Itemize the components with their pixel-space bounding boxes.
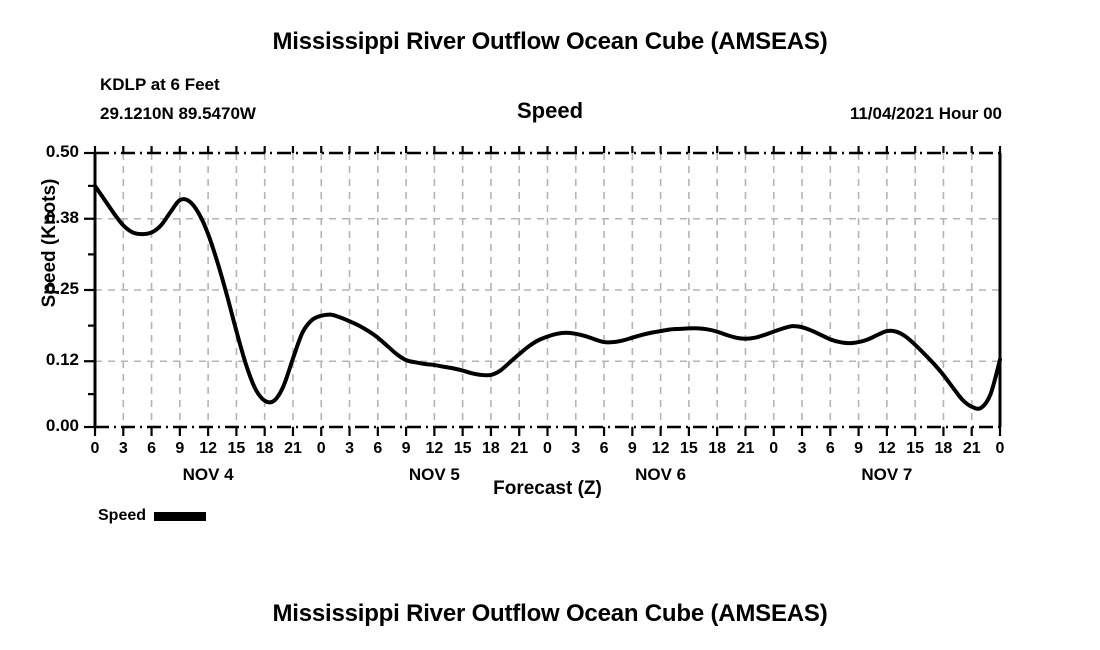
x-tick-label: 18 <box>702 440 732 458</box>
x-tick-label: 6 <box>589 440 619 458</box>
x-tick-label: 9 <box>391 440 421 458</box>
legend: Speed <box>98 507 206 525</box>
x-tick-label: 15 <box>900 440 930 458</box>
x-tick-label: 12 <box>872 440 902 458</box>
x-tick-label: 6 <box>363 440 393 458</box>
x-tick-label: 15 <box>448 440 478 458</box>
x-tick-label: 12 <box>646 440 676 458</box>
x-tick-label: 15 <box>221 440 251 458</box>
x-axis-title: Forecast (Z) <box>95 478 1000 500</box>
chart-plot-area <box>0 0 1100 650</box>
x-tick-label: 15 <box>674 440 704 458</box>
x-tick-label: 21 <box>278 440 308 458</box>
x-tick-label: 6 <box>815 440 845 458</box>
y-tick-label: 0.00 <box>17 416 79 436</box>
legend-label-speed: Speed <box>98 507 146 525</box>
legend-swatch-speed <box>154 512 206 521</box>
y-tick-label: 0.25 <box>17 279 79 299</box>
x-tick-label: 21 <box>504 440 534 458</box>
x-tick-label: 21 <box>730 440 760 458</box>
x-tick-label: 0 <box>759 440 789 458</box>
x-tick-label: 18 <box>928 440 958 458</box>
x-tick-label: 12 <box>419 440 449 458</box>
x-tick-label: 0 <box>533 440 563 458</box>
x-tick-label: 9 <box>617 440 647 458</box>
x-tick-label: 18 <box>476 440 506 458</box>
gridlines <box>95 153 1000 427</box>
y-tick-label: 0.50 <box>17 142 79 162</box>
x-tick-label: 3 <box>787 440 817 458</box>
y-tick-label: 0.12 <box>17 350 79 370</box>
x-tick-label: 3 <box>108 440 138 458</box>
x-tick-label: 3 <box>561 440 591 458</box>
x-tick-label: 9 <box>844 440 874 458</box>
page-title-bottom: Mississippi River Outflow Ocean Cube (AM… <box>0 600 1100 628</box>
x-tick-label: 0 <box>80 440 110 458</box>
y-tick-label: 0.38 <box>17 208 79 228</box>
chart-container: Speed (Knots) 0.000.120.250.380.50 03691… <box>0 0 1100 650</box>
x-tick-label: 12 <box>193 440 223 458</box>
axis-ticks <box>84 146 1000 436</box>
x-tick-label: 6 <box>137 440 167 458</box>
x-tick-label: 18 <box>250 440 280 458</box>
x-tick-label: 3 <box>335 440 365 458</box>
x-tick-label: 9 <box>165 440 195 458</box>
x-tick-label: 21 <box>957 440 987 458</box>
x-tick-label: 0 <box>306 440 336 458</box>
x-tick-label: 0 <box>985 440 1015 458</box>
